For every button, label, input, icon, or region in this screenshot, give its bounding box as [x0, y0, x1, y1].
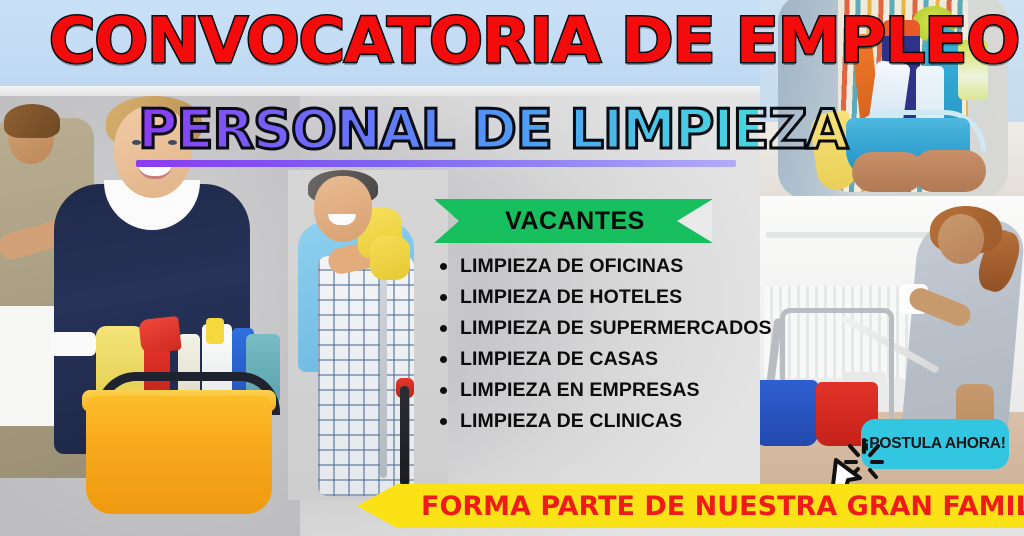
- job-advertisement-poster: CONVOCATORIA DE EMPLEO PERSONAL DE LIMPI…: [0, 0, 1024, 536]
- mopping-woman-face: [938, 214, 984, 264]
- page-title: CONVOCATORIA DE EMPLEO: [49, 2, 763, 82]
- vacancies-banner: VACANTES: [434, 199, 712, 243]
- headline-band-divider: [0, 86, 766, 96]
- list-item: LIMPIEZA DE HOTELES: [432, 286, 832, 308]
- yellow-glove-lower: [370, 236, 410, 280]
- page-subtitle: PERSONAL DE LIMPIEZA: [138, 96, 758, 166]
- vacancies-banner-label: VACANTES: [505, 207, 645, 236]
- list-item: LIMPIEZA EN EMPRESAS: [432, 379, 832, 401]
- list-item: LIMPIEZA DE SUPERMERCADOS: [432, 317, 832, 339]
- main-cleaner-sleeve-left: [50, 332, 96, 356]
- photo-male-cleaner-with-mop: [288, 170, 448, 500]
- male-cleaner-face: [314, 176, 372, 242]
- yellow-cap: [206, 318, 224, 344]
- red-spray-trigger: [138, 316, 181, 354]
- orange-bucket: [86, 396, 272, 514]
- list-item: LIMPIEZA DE OFICINAS: [432, 255, 832, 277]
- footer-banner-label: FORMA PARTE DE NUESTRA GRAN FAMILIA !: [421, 491, 1024, 522]
- background-worker-hair: [4, 104, 60, 138]
- list-item: LIMPIEZA DE CASAS: [432, 348, 832, 370]
- footer-banner: FORMA PARTE DE NUESTRA GRAN FAMILIA !: [357, 484, 1024, 528]
- subtitle-underline: [136, 160, 736, 167]
- broom-handle: [400, 386, 409, 486]
- list-item: LIMPIEZA DE CLINICAS: [432, 410, 832, 432]
- vacancies-list: LIMPIEZA DE OFICINAS LIMPIEZA DE HOTELES…: [432, 255, 832, 441]
- topright-hand-right: [912, 150, 986, 192]
